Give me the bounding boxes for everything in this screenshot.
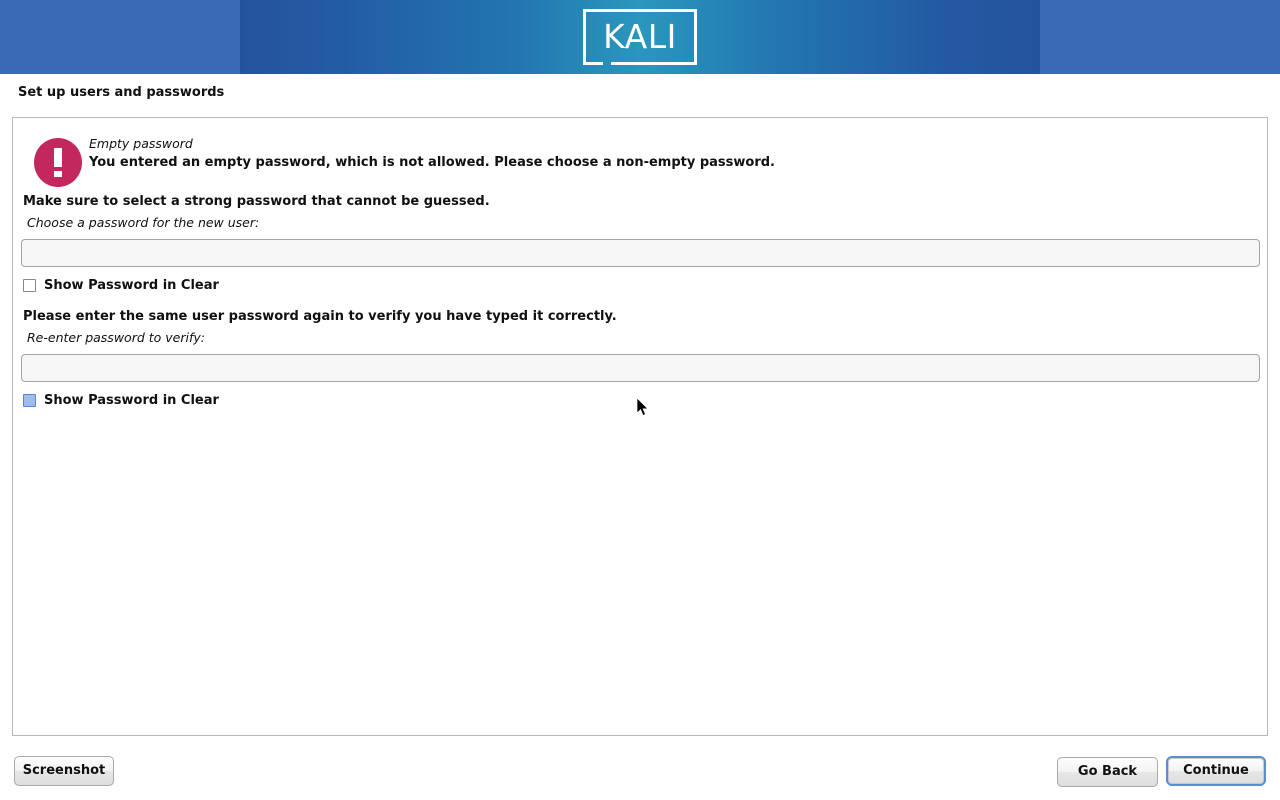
error-exclamation-icon <box>34 138 82 187</box>
kali-wordmark: KALI <box>583 9 697 65</box>
password-field-label: Choose a password for the new user: <box>27 215 259 230</box>
password-verify-input[interactable] <box>21 354 1260 382</box>
show-password-label-2: Show Password in Clear <box>44 393 219 408</box>
continue-button[interactable]: Continue <box>1166 756 1266 786</box>
password-input[interactable] <box>21 239 1260 267</box>
show-password-checkbox-1[interactable]: Show Password in Clear <box>23 276 219 294</box>
kali-logo: KALI <box>583 9 697 65</box>
installer-header-banner: KALI <box>0 0 1280 74</box>
screenshot-button[interactable]: Screenshot <box>14 756 114 786</box>
checkbox-box-icon[interactable] <box>23 394 36 407</box>
installer-content-panel: Empty password You entered an empty pass… <box>12 117 1268 736</box>
show-password-checkbox-2[interactable]: Show Password in Clear <box>23 391 219 409</box>
exclamation-dot <box>54 171 62 177</box>
empty-password-alert: Empty password You entered an empty pass… <box>21 126 1121 188</box>
alert-message: You entered an empty password, which is … <box>89 155 775 170</box>
page-title: Set up users and passwords <box>18 85 224 100</box>
go-back-button[interactable]: Go Back <box>1057 757 1158 787</box>
checkbox-box-icon[interactable] <box>23 279 36 292</box>
exclamation-bar <box>54 148 62 167</box>
alert-title: Empty password <box>89 136 193 151</box>
show-password-label-1: Show Password in Clear <box>44 278 219 293</box>
continue-button-inner: Continue <box>1168 758 1264 784</box>
password-verify-field-label: Re-enter password to verify: <box>27 330 205 345</box>
password-strength-heading: Make sure to select a strong password th… <box>23 194 490 209</box>
password-verify-heading: Please enter the same user password agai… <box>23 309 617 324</box>
